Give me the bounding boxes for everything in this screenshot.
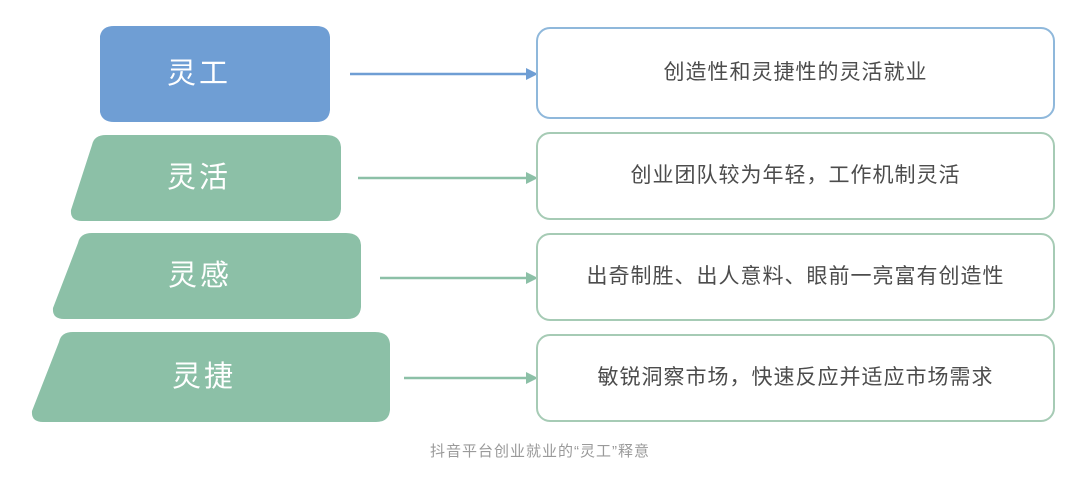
desc-box-level-1-text: 创造性和灵捷性的灵活就业 [664, 59, 928, 86]
arrow-level-2 [358, 168, 538, 188]
desc-box-level-4[interactable]: 敏锐洞察市场，快速反应并适应市场需求 [536, 334, 1055, 422]
diagram-caption: 抖音平台创业就业的“灵工”释意 [0, 440, 1080, 461]
pyramid-level-1-label: 灵工 [167, 60, 231, 89]
desc-box-level-3-text: 出奇制胜、出人意料、眼前一亮富有创造性 [587, 263, 1005, 290]
pyramid-level-1[interactable]: 灵工 [80, 26, 330, 122]
arrow-level-4 [404, 368, 538, 388]
arrow-level-1 [350, 64, 538, 84]
diagram-canvas: 灵工 创造性和灵捷性的灵活就业 灵活 创业团队较为年轻，工作机制灵活 灵感 [0, 0, 1080, 484]
desc-box-level-2-text: 创业团队较为年轻，工作机制灵活 [631, 162, 961, 189]
pyramid-level-4[interactable]: 灵捷 [29, 332, 391, 422]
arrow-level-3 [380, 268, 538, 288]
pyramid-level-2[interactable]: 灵活 [68, 135, 342, 221]
pyramid-level-4-label: 灵捷 [172, 363, 236, 392]
pyramid-level-3[interactable]: 灵感 [50, 233, 362, 319]
pyramid-level-3-label: 灵感 [168, 262, 232, 291]
pyramid-level-2-label: 灵活 [167, 164, 231, 193]
desc-box-level-4-text: 敏锐洞察市场，快速反应并适应市场需求 [598, 364, 994, 391]
desc-box-level-1[interactable]: 创造性和灵捷性的灵活就业 [536, 27, 1055, 119]
desc-box-level-2[interactable]: 创业团队较为年轻，工作机制灵活 [536, 132, 1055, 220]
desc-box-level-3[interactable]: 出奇制胜、出人意料、眼前一亮富有创造性 [536, 233, 1055, 321]
